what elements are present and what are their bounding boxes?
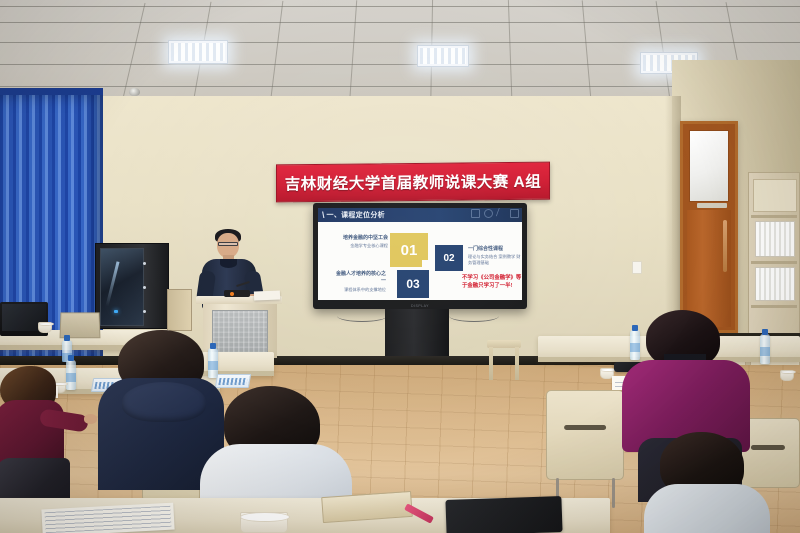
podium-front-panel xyxy=(212,310,268,354)
presentation-slide: \ 一、课程定位分析 培养金融的中坚工会 金融学专业核心课程 一门综合性课程 理… xyxy=(318,208,522,300)
ceiling-light-1 xyxy=(168,40,228,64)
presenter-collar xyxy=(220,259,237,268)
doodle-circle-icon xyxy=(484,209,493,218)
display-cable-right xyxy=(449,310,499,322)
chair-right-leg2 xyxy=(612,478,615,508)
slide-slash-icon: \ xyxy=(322,210,325,220)
doodle-square-icon xyxy=(471,209,480,218)
rack-status-led xyxy=(114,310,118,313)
rack-glass-door[interactable] xyxy=(100,248,144,326)
slide-header-bar: \ 一、课程定位分析 xyxy=(318,208,522,222)
a1-hand xyxy=(84,414,97,424)
display-cable-left xyxy=(337,310,387,322)
slide-title: 一、课程定位分析 xyxy=(327,210,385,220)
podium-notes xyxy=(254,291,280,301)
slide-number-box-02: 02 xyxy=(435,245,463,271)
light-switch[interactable] xyxy=(632,261,642,274)
door-glass-panel xyxy=(689,130,729,202)
rack-glass-reflection xyxy=(105,261,119,306)
slide-highlight-text: 不学习《公司金融学》等于金融只学习了一半! xyxy=(462,274,522,290)
scene-root: 吉林财经大学首届教师说课大赛 A组 \ 一、课程定位分析 培养金融的中坚工会 金… xyxy=(0,0,800,533)
event-banner-text: 吉林财经大学首届教师说课大赛 A组 xyxy=(285,170,542,195)
interactive-display[interactable]: \ 一、课程定位分析 培养金融的中坚工会 金融学专业核心课程 一门综合性课程 理… xyxy=(313,203,527,309)
a5-torso xyxy=(644,484,770,533)
shelf-box-top xyxy=(753,179,797,212)
a2-hood xyxy=(122,382,206,422)
stool-leg-left xyxy=(489,347,493,380)
ceiling-light-2 xyxy=(417,45,469,67)
display-brand-label: DISPLAY xyxy=(411,304,429,308)
shelf-binders-low xyxy=(755,267,795,301)
paper-cup-3 xyxy=(780,370,794,381)
slide-doodle-icons xyxy=(471,209,519,218)
microphone-led-icon xyxy=(230,292,234,296)
glasses-icon xyxy=(218,242,238,246)
door-closer xyxy=(697,203,727,208)
slide-number-box-03: 03 xyxy=(397,270,429,298)
shelf-binders-mid xyxy=(755,221,795,257)
document-bookshelf xyxy=(748,172,800,352)
paper-cup-foreground xyxy=(240,512,288,533)
side-cabinet xyxy=(167,289,192,331)
stool-leg-right xyxy=(515,347,519,380)
chair-right-front[interactable] xyxy=(546,390,624,480)
paper-cup-back xyxy=(38,322,52,333)
security-camera-icon xyxy=(129,88,140,96)
door-handle[interactable] xyxy=(723,220,727,272)
equipment-rack xyxy=(95,243,169,329)
slide-label-1: 培养金融的中坚工会 金融学专业核心课程 xyxy=(334,235,388,249)
slide-label-3: 金融人才培养的核心之一 课程体系中的支撑地位 xyxy=(332,271,386,293)
tablet-foreground[interactable] xyxy=(445,496,562,533)
doodle-square2-icon xyxy=(510,209,519,218)
room-door[interactable] xyxy=(680,121,738,333)
water-bottle-1 xyxy=(66,360,76,390)
doodle-line-icon xyxy=(496,208,508,219)
microphone-base[interactable] xyxy=(224,290,250,297)
event-banner: 吉林财经大学首届教师说课大赛 A组 xyxy=(276,162,550,203)
name-card-holder-2 xyxy=(215,374,251,388)
water-bottle-3 xyxy=(630,330,640,360)
water-bottle-4 xyxy=(760,334,770,364)
slide-label-2: 一门综合性课程 理论与实务结合 案例教学 财务管理基础 xyxy=(468,246,522,266)
